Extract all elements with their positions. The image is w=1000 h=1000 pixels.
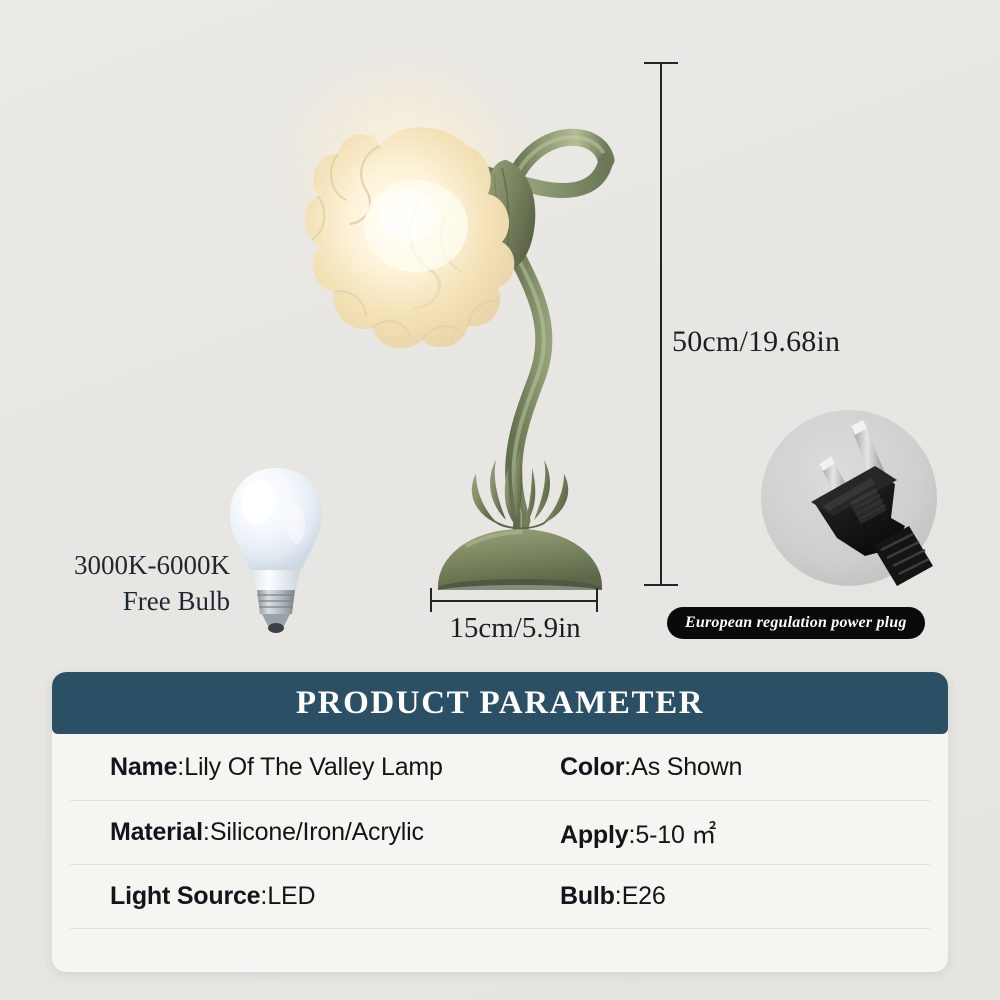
product-infographic-page: 50cm/19.68in 15cm/5.9in 3000K-6000K Free… bbox=[0, 0, 1000, 1000]
param-cell-name: Name : Lily Of The Valley Lamp bbox=[70, 753, 552, 782]
bulb-caption-line-2: Free Bulb bbox=[40, 584, 230, 620]
param-sep: : bbox=[615, 882, 622, 911]
param-value-name: Lily Of The Valley Lamp bbox=[184, 753, 443, 782]
param-label-material: Material bbox=[110, 818, 203, 847]
led-bulb-illustration bbox=[218, 462, 334, 634]
height-dimension-label: 50cm/19.68in bbox=[672, 325, 840, 359]
dimension-cap-right bbox=[596, 588, 598, 612]
param-label-color: Color bbox=[560, 753, 624, 782]
param-sep: : bbox=[177, 753, 184, 782]
product-parameter-title: PRODUCT PARAMETER bbox=[296, 685, 704, 722]
product-parameter-header: PRODUCT PARAMETER bbox=[52, 672, 948, 734]
dimension-cap-bottom bbox=[644, 584, 678, 586]
param-sep: : bbox=[260, 882, 267, 911]
param-label-bulb: Bulb bbox=[560, 882, 615, 911]
param-label-name: Name bbox=[110, 753, 177, 782]
width-dimension-label: 15cm/5.9in bbox=[425, 612, 605, 645]
product-parameter-body: Name : Lily Of The Valley Lamp Color : A… bbox=[52, 734, 948, 972]
param-value-apply: 5-10 ㎡ bbox=[635, 815, 716, 851]
width-dimension-line bbox=[428, 588, 600, 614]
param-sep: : bbox=[628, 821, 635, 850]
table-row: Light Source : LED Bulb : E26 bbox=[70, 865, 930, 929]
param-cell-bulb: Bulb : E26 bbox=[552, 882, 666, 911]
param-cell-light-source: Light Source : LED bbox=[70, 882, 552, 911]
param-sep: : bbox=[203, 818, 210, 847]
dimension-line-vertical bbox=[660, 62, 662, 586]
param-cell-color: Color : As Shown bbox=[552, 753, 742, 782]
param-value-bulb: E26 bbox=[622, 882, 666, 911]
param-cell-material: Material : Silicone/Iron/Acrylic bbox=[70, 818, 552, 847]
power-plug-badge: European regulation power plug bbox=[667, 607, 925, 639]
bulb-caption: 3000K-6000K Free Bulb bbox=[40, 548, 230, 619]
table-row: Material : Silicone/Iron/Acrylic Apply :… bbox=[70, 801, 930, 865]
param-value-color: As Shown bbox=[631, 753, 742, 782]
dimension-line-horizontal bbox=[430, 600, 598, 602]
param-label-apply: Apply bbox=[560, 821, 628, 850]
param-cell-apply: Apply : 5-10 ㎡ bbox=[552, 815, 716, 851]
param-label-light-source: Light Source bbox=[110, 882, 260, 911]
param-sep: : bbox=[624, 753, 631, 782]
power-plug-illustration bbox=[745, 406, 953, 596]
param-value-material: Silicone/Iron/Acrylic bbox=[210, 818, 424, 847]
bulb-caption-line-1: 3000K-6000K bbox=[40, 548, 230, 584]
product-parameter-card: PRODUCT PARAMETER Name : Lily Of The Val… bbox=[52, 672, 948, 972]
hero-product-area: 50cm/19.68in 15cm/5.9in 3000K-6000K Free… bbox=[0, 0, 1000, 660]
table-row: Name : Lily Of The Valley Lamp Color : A… bbox=[70, 734, 930, 801]
param-value-light-source: LED bbox=[267, 882, 315, 911]
